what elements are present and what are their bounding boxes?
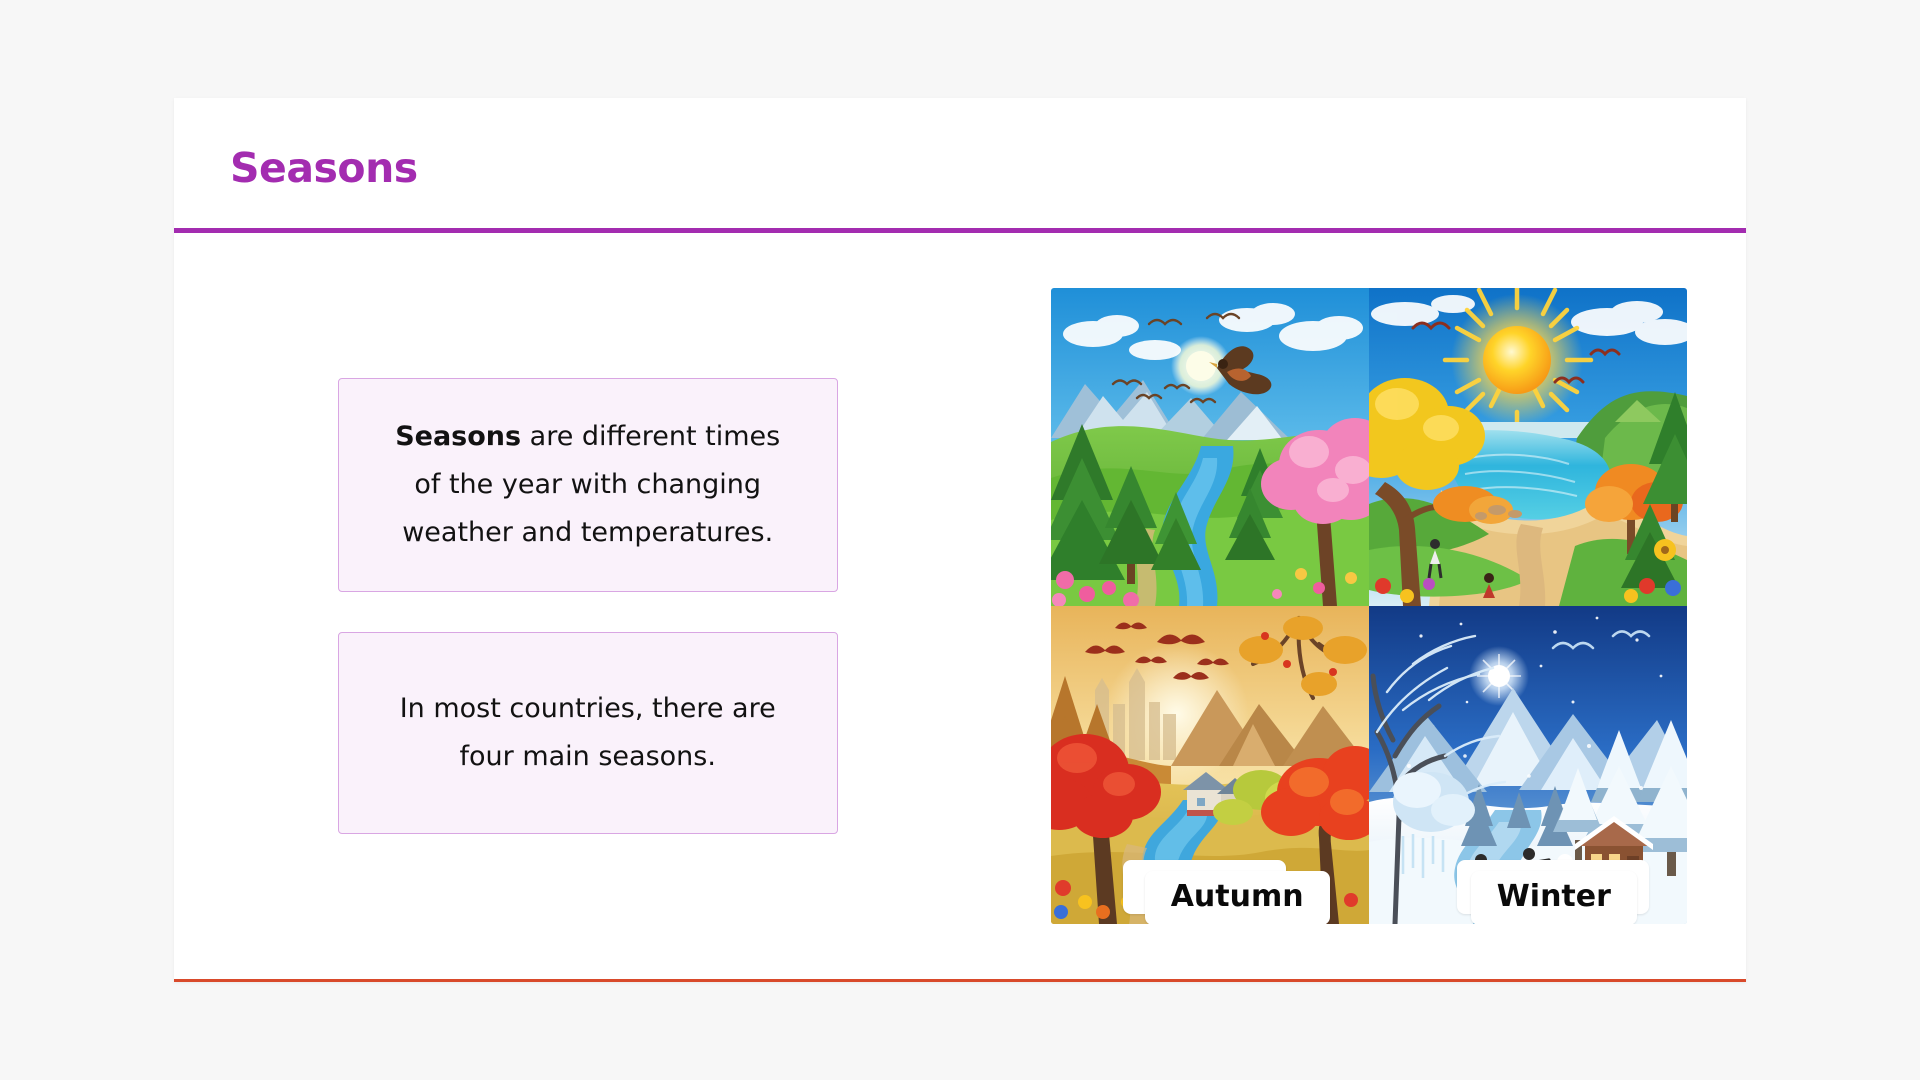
collage-quadrant-spring [1051, 288, 1369, 606]
collage-quadrant-summer [1369, 288, 1687, 606]
spring-scene-icon [1051, 288, 1369, 606]
fact-body-text: In most countries, there are four main s… [400, 693, 776, 772]
season-label-autumn: Autumn [1145, 871, 1330, 924]
season-label-winter: Winter [1471, 871, 1637, 924]
fact-lead-term: Seasons [395, 421, 521, 452]
slide-header: Seasons [174, 98, 1746, 231]
four-seasons-collage: Spring Summer Autumn Winter [1051, 288, 1687, 924]
summer-scene-icon [1369, 288, 1687, 606]
slide-card: Seasons Seasons are different times of t… [174, 98, 1746, 982]
fact-box-count: In most countries, there are four main s… [338, 632, 838, 834]
slide-stage: Seasons Seasons are different times of t… [0, 0, 1920, 1080]
slide-body: Seasons are different times of the year … [174, 233, 1746, 979]
page-title: Seasons [230, 144, 418, 192]
fact-box-definition: Seasons are different times of the year … [338, 378, 838, 592]
image-column: Spring Summer Autumn Winter [991, 288, 1746, 924]
text-column: Seasons are different times of the year … [174, 378, 991, 834]
